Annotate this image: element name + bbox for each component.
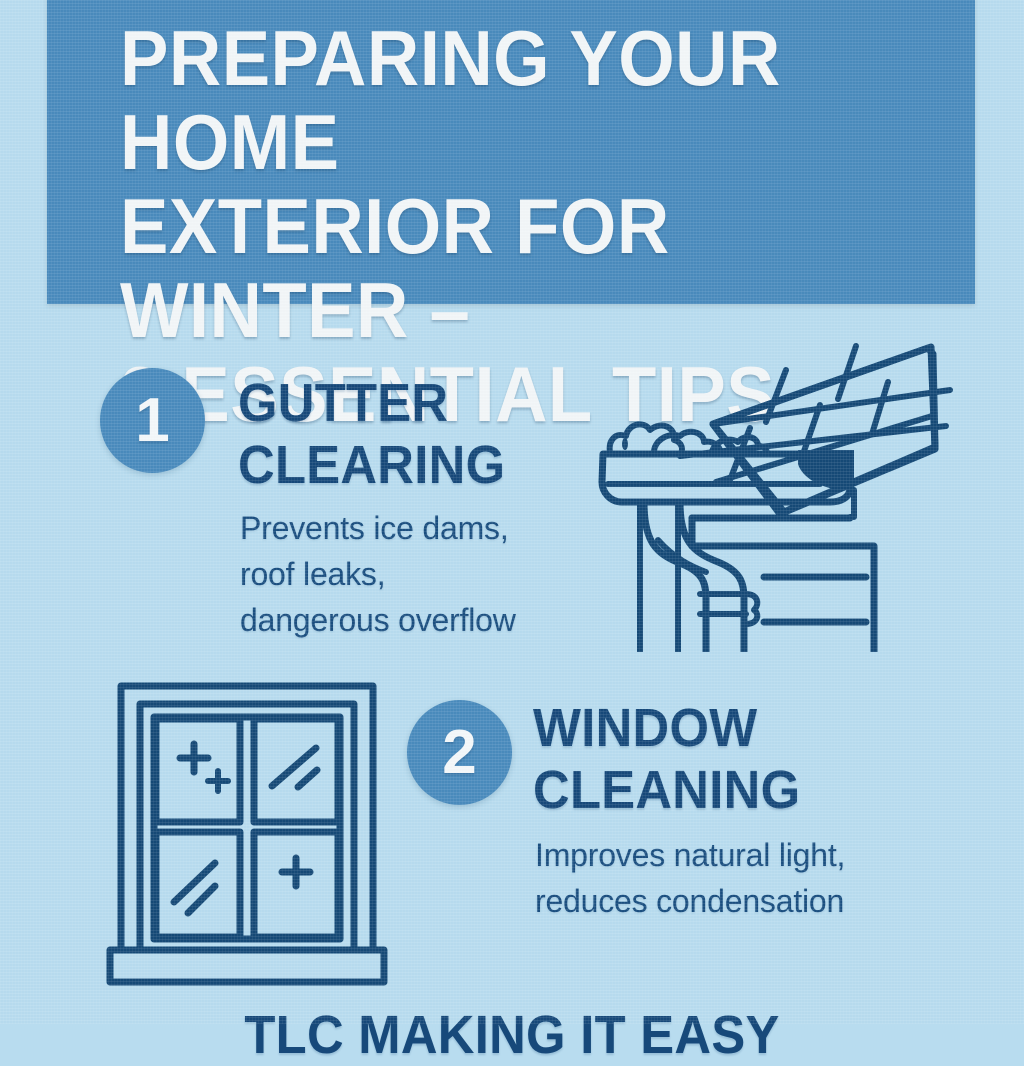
tip-heading-gutter-clearing: Gutter Clearing	[238, 372, 642, 496]
tip-body-window-cleaning: Improves natural light, reduces condensa…	[535, 832, 965, 924]
tip-number-1: 1	[100, 368, 205, 473]
tip-heading-window-cleaning: Window Cleaning	[533, 697, 937, 821]
window-illustration	[88, 672, 408, 1007]
header-banner: Preparing Your Home Exterior For Winter …	[47, 0, 975, 304]
window-icon	[88, 672, 408, 1002]
tip-number-badge-2: 2	[407, 700, 512, 805]
tip-body-gutter-clearing: Prevents ice dams, roof leaks, dangerous…	[240, 505, 660, 643]
tip-number-badge-1: 1	[100, 368, 205, 473]
tip-number-2: 2	[407, 700, 512, 805]
footer-tagline: TLC Making It Easy	[31, 1004, 994, 1066]
